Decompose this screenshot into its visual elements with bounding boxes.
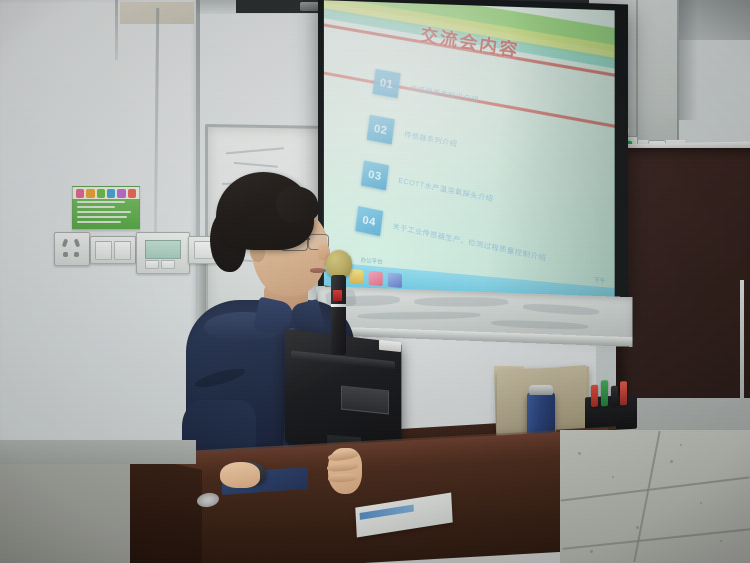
microphone-head	[326, 250, 352, 278]
monitor-spec-label	[341, 385, 389, 414]
presenter-left-hand	[220, 462, 260, 488]
cabinet-seam	[636, 0, 638, 150]
agenda-item-text: 传感器基本知识介绍	[410, 83, 480, 105]
podium-left-side	[118, 452, 202, 563]
poster-title-characters	[76, 188, 136, 199]
power-socket[interactable]	[54, 232, 90, 266]
box-flap	[560, 365, 586, 433]
microphone-body	[331, 275, 346, 355]
agenda-item-text: 关于工业传感器生产、检测过程质量控制介绍	[392, 221, 547, 263]
agenda-number-badge: 02	[367, 115, 395, 145]
microphone-band	[331, 304, 346, 307]
microphone-button[interactable]	[333, 290, 342, 301]
agenda-number-badge: 01	[372, 69, 400, 98]
wall-seam	[115, 0, 118, 60]
door-side-strip	[740, 280, 744, 400]
handheld-microphone[interactable]	[324, 250, 354, 376]
floor-left-area	[0, 456, 130, 563]
folder-band	[360, 504, 414, 519]
agenda-item-text: ECOTT水产温溶氧探头介绍	[398, 175, 494, 204]
poster-text-lines	[77, 201, 135, 226]
agenda-item-text: 传感器系列介绍	[404, 129, 458, 149]
bottle-cap[interactable]	[529, 385, 553, 395]
terrazzo-floor	[560, 430, 750, 563]
photo-scene: 交流会内容 01 传感器基本知识介绍 02 传感器系列介绍 03 ECOTT水产…	[0, 0, 750, 563]
taskbar-clock: 下午	[594, 276, 606, 286]
wall-baseboard	[0, 440, 196, 464]
wall-safety-poster	[72, 186, 140, 230]
light-switch-panel[interactable]	[90, 236, 136, 264]
